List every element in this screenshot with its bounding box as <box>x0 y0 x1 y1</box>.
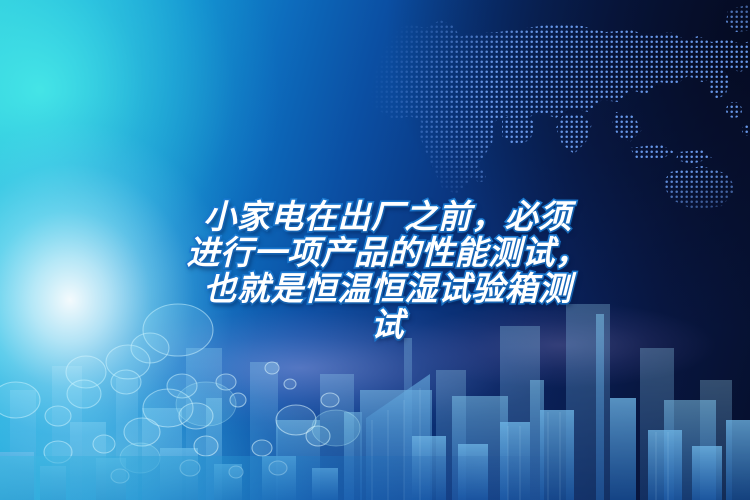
headline-text: 小家电在出厂之前，必须 进行一项产品的性能测试， 也就是恒温恒湿试验箱测 试 <box>140 199 635 343</box>
banner-image: 小家电在出厂之前，必须 进行一项产品的性能测试， 也就是恒温恒湿试验箱测 试 <box>0 0 750 500</box>
page-title: 小家电在出厂之前，必须 进行一项产品的性能测试， 也就是恒温恒湿试验箱测 试 <box>140 163 635 379</box>
